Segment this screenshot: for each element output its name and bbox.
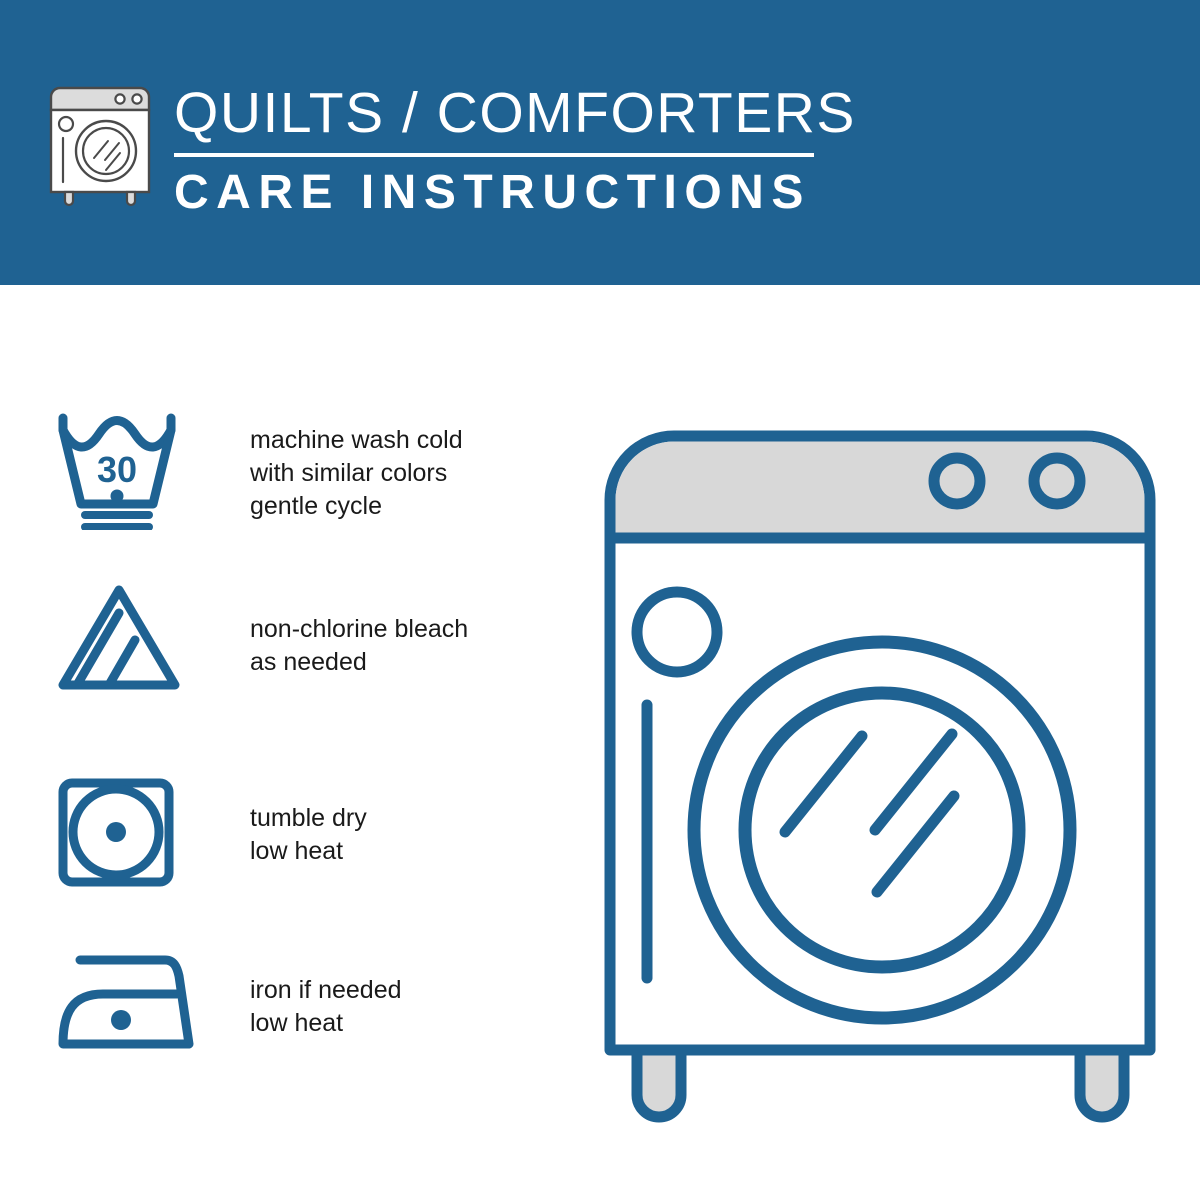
care-instruction-item: tumble dry low heat (55, 775, 555, 890)
dry-heat-dot (106, 822, 126, 842)
non-chlorine-bleach-triangle-icon (55, 580, 205, 695)
wash-heat-dot (111, 490, 124, 503)
washing-machine-icon (48, 78, 152, 208)
care-instruction-label: iron if needed low heat (205, 950, 402, 1040)
detergent-port (637, 592, 717, 672)
wash-temperature-value: 30 (97, 449, 137, 490)
front-load-washing-machine-illustration (590, 400, 1170, 1130)
gentle-bar-1 (81, 511, 153, 519)
iron-heat-dot (111, 1010, 131, 1030)
care-instruction-item: 30 machine wash cold with similar colors… (55, 410, 555, 530)
header-content: QUILTS / COMFORTERS CARE INSTRUCTIONS (48, 78, 856, 219)
iron-icon (55, 950, 205, 1055)
care-instruction-item: iron if needed low heat (55, 950, 555, 1055)
page-header: QUILTS / COMFORTERS CARE INSTRUCTIONS (0, 0, 1200, 285)
page-subtitle: CARE INSTRUCTIONS (174, 167, 856, 219)
care-instruction-label: machine wash cold with similar colors ge… (205, 410, 463, 523)
header-title-group: QUILTS / COMFORTERS CARE INSTRUCTIONS (174, 78, 856, 219)
care-instruction-label: non-chlorine bleach as needed (205, 580, 468, 679)
title-divider (174, 153, 814, 157)
care-instruction-list: 30 machine wash cold with similar colors… (0, 285, 560, 1200)
machine-wash-tub-icon: 30 (55, 410, 205, 530)
care-instruction-label: tumble dry low heat (205, 775, 367, 868)
gentle-bar-2 (81, 523, 153, 530)
care-instruction-item: non-chlorine bleach as needed (55, 580, 555, 695)
tumble-dry-icon (55, 775, 205, 890)
page-title: QUILTS / COMFORTERS (174, 82, 856, 144)
